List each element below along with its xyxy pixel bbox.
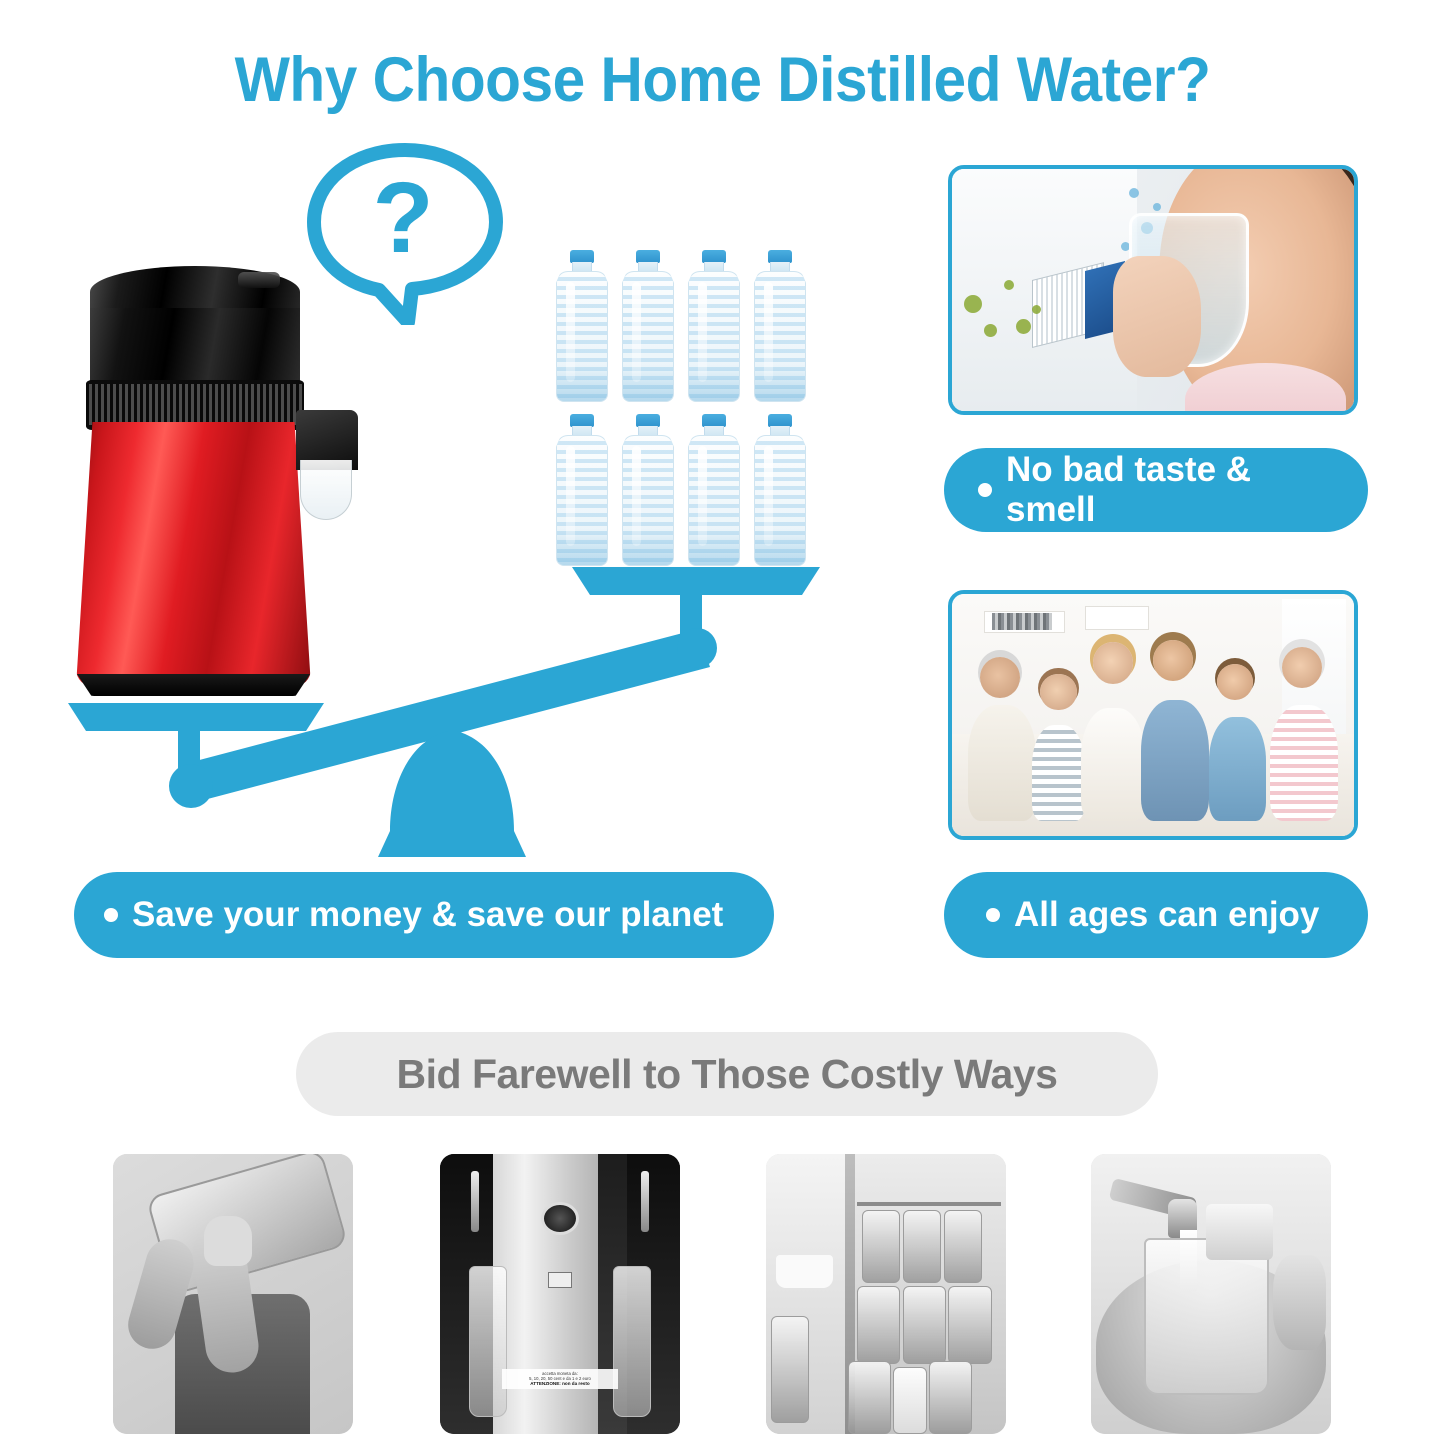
costly-way-water-vending-machine: accetta moneta da: 5, 10, 20, 50 cent e … bbox=[440, 1154, 680, 1434]
dispenser-tap bbox=[471, 1171, 479, 1233]
wall-shelf bbox=[1085, 606, 1149, 630]
svg-text:?: ? bbox=[372, 162, 433, 274]
benefit-label: All ages can enjoy bbox=[1014, 895, 1319, 935]
books bbox=[992, 613, 1052, 630]
machine-front-panel bbox=[493, 1154, 599, 1434]
photo-family-on-sofa bbox=[948, 590, 1358, 840]
girl bbox=[1032, 725, 1084, 822]
infographic-canvas: Why Choose Home Distilled Water? ? VEVOR… bbox=[0, 0, 1445, 1445]
boy-head bbox=[1217, 664, 1253, 700]
bullet-dot-icon bbox=[104, 908, 118, 922]
grandfather bbox=[968, 705, 1036, 821]
vending-machine-sign: accetta moneta da: 5, 10, 20, 50 cent e … bbox=[502, 1369, 617, 1389]
water-jug bbox=[948, 1286, 991, 1364]
filter-cartridge bbox=[1206, 1204, 1273, 1260]
water-jug bbox=[944, 1210, 982, 1283]
bottle-row bbox=[556, 250, 806, 402]
coin-dial bbox=[541, 1202, 579, 1236]
glass-bottle bbox=[613, 1266, 651, 1417]
water-jug bbox=[771, 1316, 809, 1422]
bubble-icon bbox=[1153, 203, 1161, 211]
germ-icon bbox=[964, 295, 982, 313]
benefit-label: No bad taste & smell bbox=[1006, 450, 1334, 530]
benefit-label: Save your money & save our planet bbox=[132, 895, 723, 935]
father-head bbox=[1153, 640, 1193, 681]
coin-slot bbox=[548, 1272, 572, 1289]
balance-scale-icon bbox=[60, 555, 830, 865]
costly-way-stacked-water-jugs bbox=[766, 1154, 1006, 1434]
costly-way-carrying-heavy-jug bbox=[113, 1154, 353, 1434]
boy bbox=[1209, 717, 1265, 821]
water-jug bbox=[929, 1361, 972, 1434]
grandfather-head bbox=[980, 657, 1020, 698]
germ-icon bbox=[1032, 305, 1041, 314]
girl-head bbox=[1040, 674, 1076, 710]
water-bottle bbox=[688, 250, 740, 402]
grandmother-head bbox=[1282, 647, 1322, 688]
wall-sink bbox=[776, 1255, 834, 1289]
dispenser-tap bbox=[641, 1171, 649, 1233]
water-bottle bbox=[754, 414, 806, 566]
water-bottle bbox=[754, 250, 806, 402]
distiller-upper-body bbox=[90, 308, 300, 388]
hand bbox=[1273, 1255, 1326, 1350]
water-bottle bbox=[622, 250, 674, 402]
mother-head bbox=[1093, 642, 1133, 683]
bubble-icon bbox=[1129, 188, 1139, 198]
distiller-spout-glass bbox=[300, 460, 352, 520]
costly-way-filter-pitcher-tap bbox=[1091, 1154, 1331, 1434]
water-bottle bbox=[622, 414, 674, 566]
water-jug bbox=[862, 1210, 900, 1283]
grandmother bbox=[1270, 705, 1338, 821]
water-jug bbox=[857, 1286, 900, 1364]
water-bottle bbox=[556, 250, 608, 402]
benefit-badge-save-money: Save your money & save our planet bbox=[74, 872, 774, 958]
mother bbox=[1081, 708, 1145, 822]
water-jug bbox=[893, 1367, 927, 1434]
page-title: Why Choose Home Distilled Water? bbox=[51, 44, 1395, 116]
section-banner: Bid Farewell to Those Costly Ways bbox=[296, 1032, 1158, 1116]
father bbox=[1141, 700, 1209, 821]
water-jug bbox=[903, 1210, 941, 1283]
bullet-dot-icon bbox=[986, 908, 1000, 922]
water-bottle bbox=[688, 414, 740, 566]
sign-line-3: ATTENZIONE: non da resto bbox=[502, 1381, 617, 1387]
benefit-badge-no-bad-taste: No bad taste & smell bbox=[944, 448, 1368, 532]
glass-bottle bbox=[469, 1266, 507, 1417]
water-jug bbox=[848, 1361, 891, 1434]
germ-icon bbox=[984, 324, 997, 337]
bullet-dot-icon bbox=[978, 483, 992, 497]
bottle-row bbox=[556, 414, 806, 566]
water-bottle bbox=[556, 414, 608, 566]
benefit-badge-all-ages: All ages can enjoy bbox=[944, 872, 1368, 958]
hand bbox=[204, 1216, 252, 1266]
plastic-water-bottles-group bbox=[556, 250, 806, 580]
hand bbox=[1113, 256, 1201, 377]
filter-pitcher bbox=[1144, 1238, 1269, 1395]
water-jug bbox=[903, 1286, 946, 1364]
hanging-rail bbox=[857, 1202, 1001, 1206]
photo-drinking-water bbox=[948, 165, 1358, 415]
